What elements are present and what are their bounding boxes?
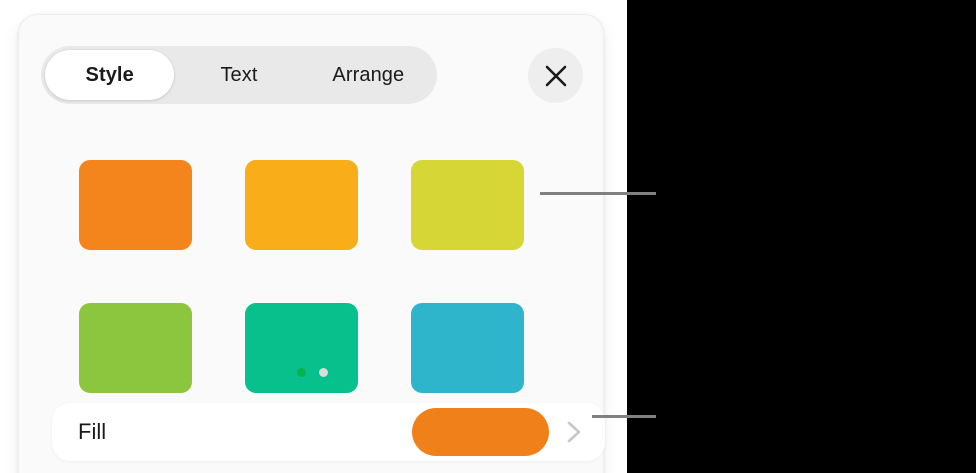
tab-style[interactable]: Style bbox=[45, 50, 174, 100]
chevron-right-icon[interactable] bbox=[561, 419, 587, 445]
style-swatch-yellow[interactable] bbox=[411, 160, 524, 250]
panel-header: Style Text Arrange bbox=[41, 46, 583, 108]
close-x-icon bbox=[543, 63, 569, 89]
style-swatch-amber[interactable] bbox=[245, 160, 358, 250]
fill-row[interactable]: Fill bbox=[52, 403, 605, 461]
style-swatch-grid bbox=[79, 160, 559, 393]
page-dot-2[interactable] bbox=[319, 368, 328, 377]
callout-line-fill-row bbox=[592, 415, 656, 418]
style-swatch-teal[interactable] bbox=[245, 303, 358, 393]
callout-line-style-swatches bbox=[540, 192, 656, 195]
page-dot-1[interactable] bbox=[297, 368, 306, 377]
screenshot-stage: Style Text Arrange bbox=[0, 0, 976, 473]
tab-segmented-control[interactable]: Style Text Arrange bbox=[41, 46, 437, 104]
format-panel: Style Text Arrange bbox=[18, 14, 604, 473]
page-indicator bbox=[19, 368, 605, 377]
fill-color-swatch[interactable] bbox=[412, 408, 549, 456]
style-swatch-cyan[interactable] bbox=[411, 303, 524, 393]
style-swatch-orange[interactable] bbox=[79, 160, 192, 250]
tab-arrange[interactable]: Arrange bbox=[304, 50, 433, 100]
tab-text[interactable]: Text bbox=[174, 50, 303, 100]
close-button[interactable] bbox=[528, 48, 583, 103]
style-swatch-green[interactable] bbox=[79, 303, 192, 393]
fill-label: Fill bbox=[78, 419, 106, 445]
